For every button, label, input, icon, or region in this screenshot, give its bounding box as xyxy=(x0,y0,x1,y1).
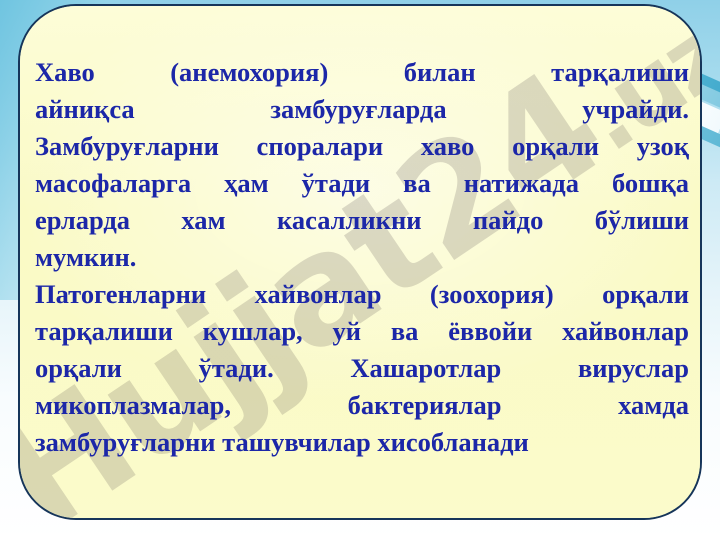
body-line: тарқалиши кушлар, уй ва ёввойи хайвонлар xyxy=(35,313,689,350)
body-line: Хаво (анемохория) билан тарқалиши xyxy=(35,54,689,91)
body-line: микоплазмалар, бактериялар хамда xyxy=(35,387,689,424)
body-line: орқали ўтади. Хашаротлар вируслар xyxy=(35,350,689,387)
slide-canvas: Hujjat24.uz Хаво (анемохория) билан тарқ… xyxy=(0,0,720,540)
body-line: Замбуруғларни споралари хаво орқали узоқ xyxy=(35,128,689,165)
slide-body-text: Хаво (анемохория) билан тарқалиши айниқс… xyxy=(35,54,689,461)
content-panel: Hujjat24.uz Хаво (анемохория) билан тарқ… xyxy=(18,4,702,520)
paragraph-anemochory: Хаво (анемохория) билан тарқалиши айниқс… xyxy=(35,54,689,276)
body-line: мумкин. xyxy=(35,239,689,276)
body-line: замбуруғларни ташувчилар хисобланади xyxy=(35,424,689,461)
paragraph-zoochory: Патогенларни хайвонлар (зоохория) орқали… xyxy=(35,276,689,461)
body-line: ерларда хам касалликни пайдо бўлиши xyxy=(35,202,689,239)
body-line: Патогенларни хайвонлар (зоохория) орқали xyxy=(35,276,689,313)
body-line: масофаларга ҳам ўтади ва натижада бошқа xyxy=(35,165,689,202)
body-line: айниқса замбуруғларда учрайди. xyxy=(35,91,689,128)
